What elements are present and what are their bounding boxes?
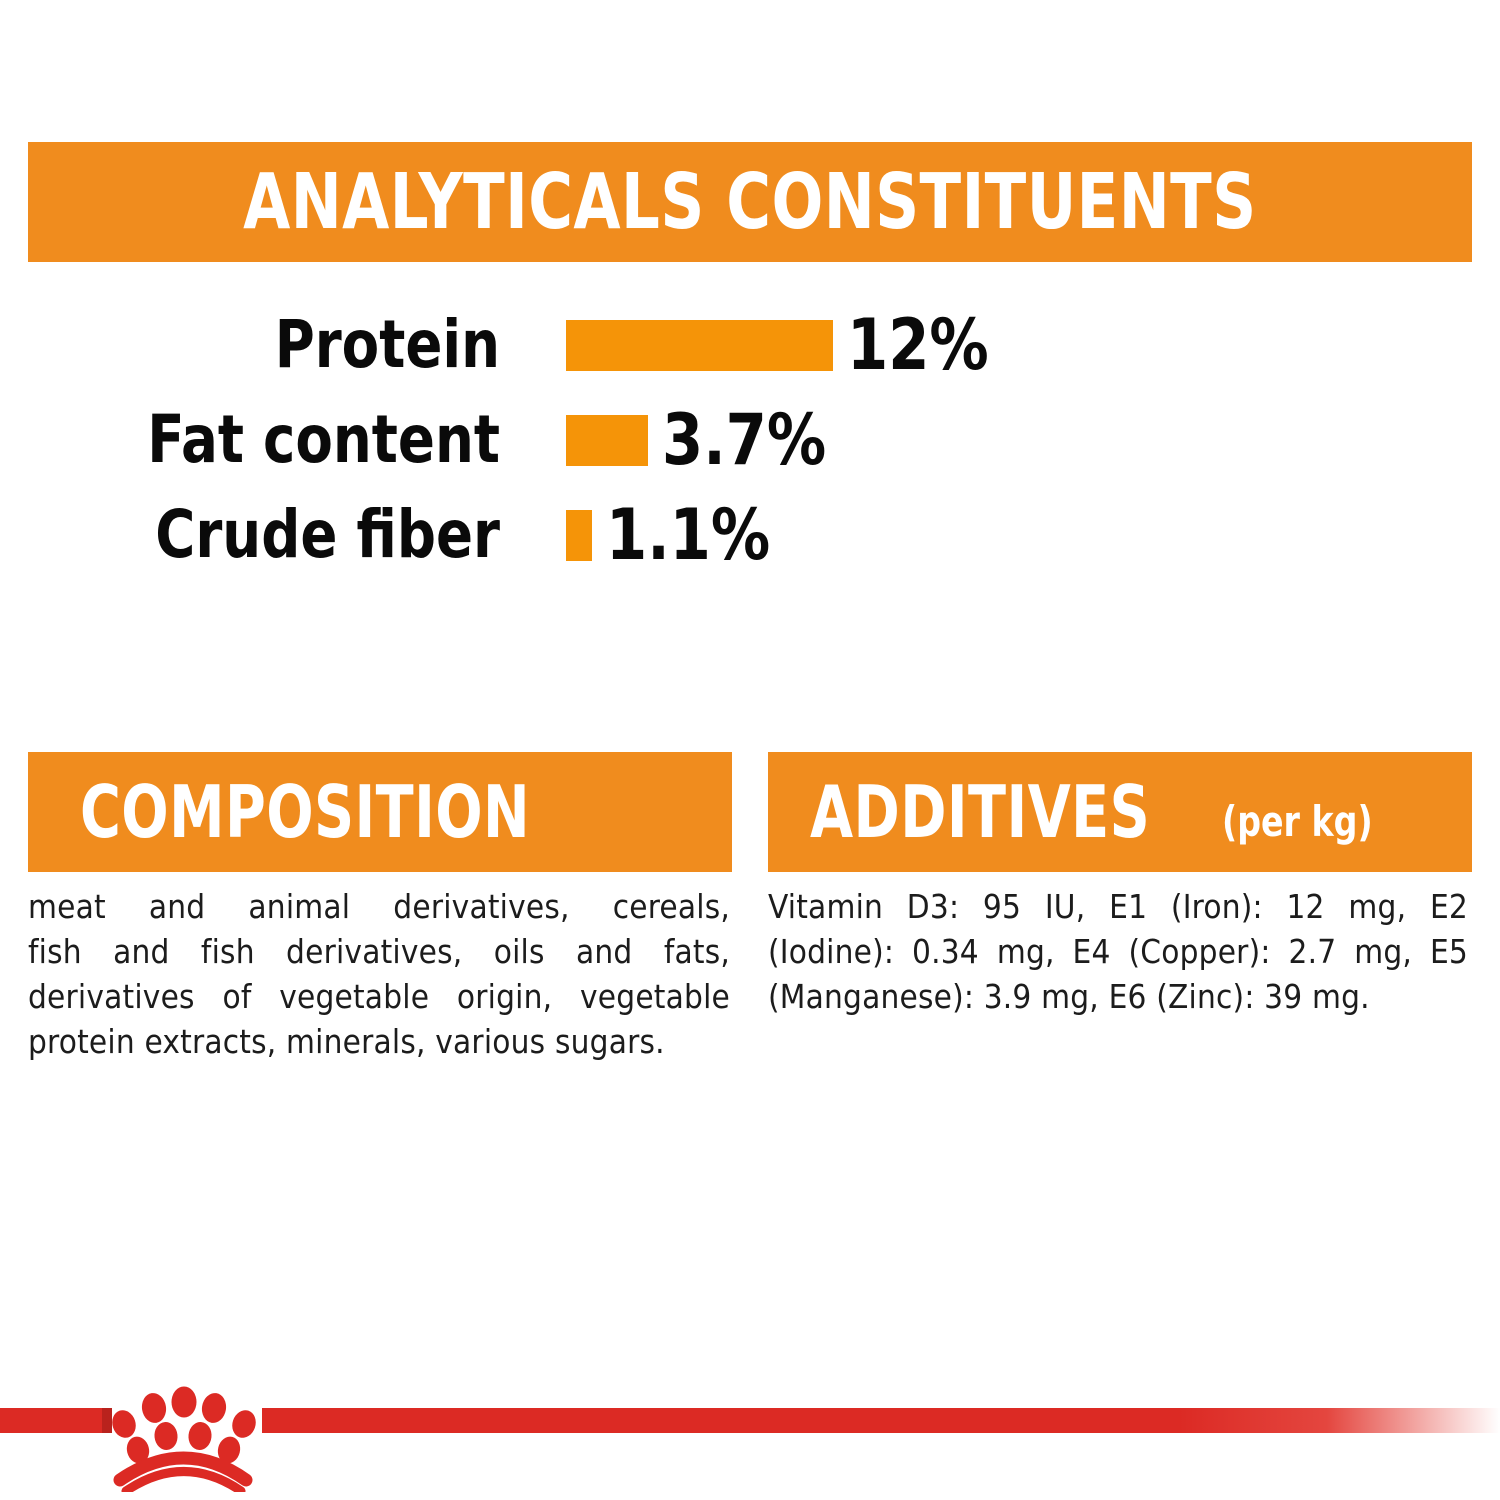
additives-line: (Manganese): 3.9 mg, E6 (Zinc): 39 mg. [768, 974, 1468, 1019]
chart-bar-wrap-fat-content: 3.7% [566, 405, 837, 475]
product-nutrition-panel: ANALYTICALS CONSTITUENTS Protein 12% Fat… [0, 0, 1500, 1500]
additives-line: (Iodine): 0.34 mg, E4 (Copper): 2.7 mg, … [768, 929, 1468, 974]
brand-stripe-right [262, 1408, 1500, 1433]
analyticals-header-bar: ANALYTICALS CONSTITUENTS [28, 142, 1472, 262]
additives-header-title: ADDITIVES [810, 776, 1150, 848]
chart-value-fat-content: 3.7% [662, 405, 826, 475]
chart-value-protein: 12% [847, 310, 989, 380]
additives-header-bar: ADDITIVES (per kg) [768, 752, 1472, 872]
chart-bar-fat-content [566, 415, 648, 466]
chart-row-crude-fiber: Crude fiber 1.1% [0, 500, 1500, 570]
chart-bar-wrap-protein: 12% [566, 310, 998, 380]
chart-label-protein: Protein [40, 312, 500, 378]
chart-value-crude-fiber: 1.1% [606, 500, 770, 570]
chart-label-crude-fiber: Crude fiber [40, 502, 500, 568]
chart-bar-wrap-crude-fiber: 1.1% [566, 500, 781, 570]
chart-bar-crude-fiber [566, 510, 592, 561]
analyticals-bar-chart: Protein 12% Fat content 3.7% Crude fiber… [0, 300, 1500, 600]
composition-header-bar: COMPOSITION [28, 752, 732, 872]
composition-line: derivatives of vegetable origin, vegetab… [28, 974, 730, 1019]
composition-line: meat and animal derivatives, cereals, [28, 884, 730, 929]
chart-row-protein: Protein 12% [0, 310, 1500, 380]
analyticals-header-title: ANALYTICALS CONSTITUENTS [243, 164, 1256, 241]
additives-header-suffix: (per kg) [1222, 801, 1373, 843]
composition-body-text: meat and animal derivatives, cereals, fi… [28, 884, 730, 1064]
brand-footer-band [0, 1404, 1500, 1500]
additives-body-text: Vitamin D3: 95 IU, E1 (Iron): 12 mg, E2 … [768, 884, 1468, 1019]
composition-line: fish and fish derivatives, oils and fats… [28, 929, 730, 974]
chart-label-fat-content: Fat content [40, 407, 500, 473]
chart-row-fat-content: Fat content 3.7% [0, 405, 1500, 475]
crown-logo-icon [96, 1376, 268, 1492]
composition-header-title: COMPOSITION [80, 776, 530, 848]
additives-line: Vitamin D3: 95 IU, E1 (Iron): 12 mg, E2 [768, 884, 1468, 929]
composition-line: protein extracts, minerals, various suga… [28, 1019, 730, 1064]
chart-bar-protein [566, 320, 833, 371]
